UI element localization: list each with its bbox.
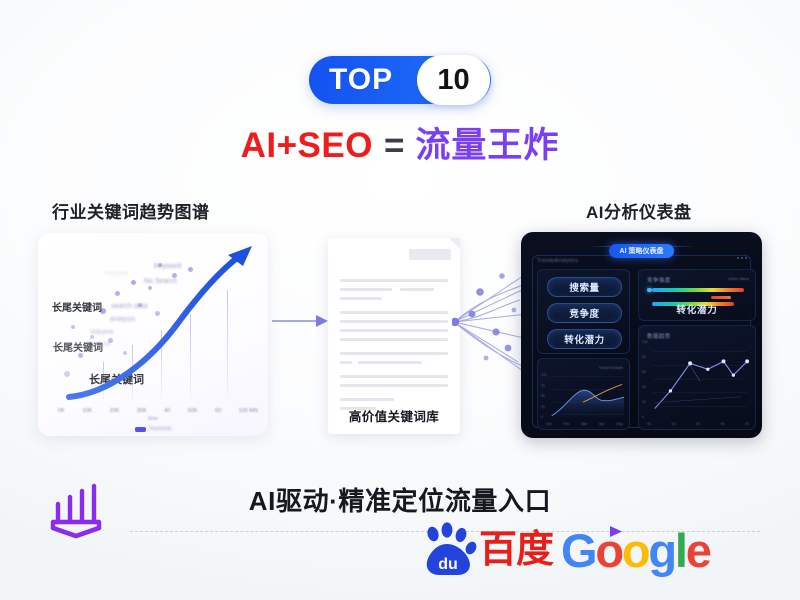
document-text-line	[340, 311, 448, 314]
flow-arrow-icon	[272, 310, 328, 332]
area-x-axis: Jan Feb Mar Apr May	[546, 422, 623, 426]
legend-swatch	[135, 427, 146, 432]
baidu-logo: du 百度	[420, 522, 553, 578]
data-trend-panel: 数据趋势 100 80 60 40 20 0	[638, 325, 756, 430]
keyword-library-document: 高价值关键词库	[328, 238, 460, 434]
x-tick: 30K	[137, 408, 147, 414]
top-badge-word: TOP	[329, 65, 393, 95]
headline-ai-seo: AI+SEO	[241, 126, 373, 165]
gauge-panel-meta: Index Value	[728, 276, 749, 281]
metric-button-competition[interactable]: 竞争度	[547, 303, 622, 323]
search-engine-logos: du 百度 Google	[420, 522, 710, 578]
line-chart	[639, 326, 755, 429]
document-text-line	[340, 361, 352, 364]
document-header-chip	[409, 249, 451, 260]
x-tick: 40	[164, 408, 170, 414]
metric-button-conversion[interactable]: 转化潜力	[547, 329, 622, 349]
x-tick: Feb	[563, 422, 569, 426]
x-tick: 20K	[110, 408, 120, 414]
baidu-du-text: du	[438, 556, 458, 573]
x-tick: May	[616, 422, 623, 426]
x-tick: 50K	[188, 408, 198, 414]
competition-gauge-panel: 竞争强度 Index Value 转化潜力	[638, 269, 756, 321]
document-text-line	[340, 279, 448, 282]
dashboard-title-badge: AI 策略仪表盘	[609, 244, 675, 258]
trend-area-panel: Trend Growth 100 75 50 25 0	[537, 358, 630, 430]
metric-button-search-volume[interactable]: 搜索量	[547, 277, 622, 297]
x-tick: Jan	[546, 422, 552, 426]
x-tick: 0K	[58, 408, 65, 414]
dashboard-screen: AI 策略仪表盘 TrendsAnalytics 搜索量 竞争度 转化潜力 竞争…	[526, 237, 757, 433]
document-text-line	[340, 288, 392, 291]
document-text-line	[340, 329, 448, 332]
trend-x-title: time	[38, 416, 268, 422]
google-letter-g2: g	[648, 527, 675, 574]
x-tick: Mar	[581, 422, 587, 426]
document-text-line	[340, 320, 448, 323]
gauge-marker	[711, 296, 731, 299]
right-section-caption: AI分析仪表盘	[586, 198, 692, 223]
x-tick: 05	[745, 422, 749, 426]
keyword-trend-card: Keyword No Search search data analysis V…	[38, 233, 268, 436]
gauge-overlay-text: 转化潜力	[639, 302, 755, 316]
google-letter-l: l	[675, 527, 686, 574]
area-chart	[538, 359, 629, 429]
google-letter-o2: o	[622, 527, 649, 574]
gauge-knob[interactable]	[647, 288, 652, 293]
headline-equals: =	[384, 126, 404, 165]
node-network-graphic	[452, 262, 532, 382]
document-text-line	[340, 297, 382, 300]
x-tick: 04	[721, 422, 725, 426]
page-title: AI+SEO=流量王炸	[0, 127, 800, 166]
google-letter-o1: o	[595, 527, 622, 574]
x-tick: Apr	[599, 422, 605, 426]
top-badge-number-circle: 10	[417, 55, 490, 105]
gauge-panel-title: 竞争强度	[647, 276, 671, 284]
x-tick: 100 MN	[239, 408, 258, 414]
document-caption: 高价值关键词库	[328, 406, 460, 425]
top-rank-badge: TOP 10	[309, 56, 491, 104]
baidu-paw-icon: du	[420, 522, 478, 578]
trend-x-axis: 0K 10K 20K 30K 40 50K 60 100 MN	[58, 408, 258, 414]
ai-dashboard-card: AI 策略仪表盘 TrendsAnalytics 搜索量 竞争度 转化潜力 竞争…	[521, 232, 762, 438]
headline-traffic: 流量王炸	[415, 126, 559, 165]
gauge-bar-primary	[652, 288, 744, 292]
document-text-line	[340, 375, 448, 378]
x-tick: 60	[215, 408, 221, 414]
trend-legend: Keywords	[38, 426, 268, 432]
left-section-caption: 行业关键词趋势图谱	[52, 198, 210, 223]
slide-canvas: TOP 10 AI+SEO=流量王炸 行业关键词趋势图谱 AI分析仪表盘	[0, 0, 800, 600]
window-controls[interactable]	[737, 257, 747, 259]
growth-arrow-icon	[38, 233, 268, 436]
document-text-line	[358, 361, 422, 364]
line-x-axis: 01 02 03 04 05	[647, 422, 749, 426]
document-text-line	[340, 338, 448, 341]
x-tick: 03	[696, 422, 700, 426]
dashboard-brand-label: TrendsAnalytics	[537, 258, 578, 264]
google-letter-e: e	[686, 527, 710, 574]
google-logo: Google	[561, 527, 710, 574]
x-tick: 02	[672, 422, 676, 426]
x-tick: 10K	[82, 408, 92, 414]
document-text-line	[340, 352, 448, 355]
trend-plot: Keyword No Search search data analysis V…	[38, 233, 268, 436]
bottom-tagline: AI驱动·精准定位流量入口	[0, 481, 800, 518]
document-text-line	[340, 384, 448, 387]
x-tick: 01	[647, 422, 651, 426]
top-badge-number: 10	[437, 66, 469, 95]
legend-label: Keywords	[150, 426, 172, 432]
metric-buttons-panel: 搜索量 竞争度 转化潜力	[537, 269, 630, 354]
document-text-line	[400, 288, 434, 291]
baidu-wordmark: 百度	[479, 531, 553, 569]
document-text-line	[340, 398, 394, 401]
google-letter-g1: G	[561, 527, 595, 574]
